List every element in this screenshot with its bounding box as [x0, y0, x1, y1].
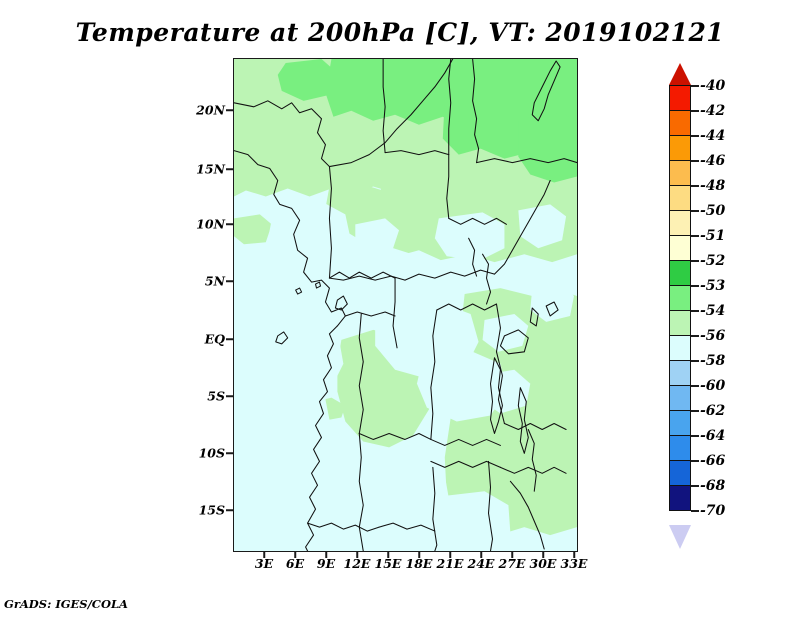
colorbar-cap-top — [669, 63, 691, 85]
footer-attribution: GrADS: IGES/COLA — [4, 597, 128, 611]
page-title: Temperature at 200hPa [C], VT: 201910212… — [0, 18, 800, 47]
colorbar — [669, 85, 691, 525]
colorbar-tick — [691, 260, 699, 262]
colorbar-swatch-15 — [669, 460, 691, 486]
x-axis-label-21e: 21E — [437, 556, 464, 571]
y-axis-label-5n: 5N — [205, 274, 225, 289]
y-tick-mark — [226, 395, 233, 397]
colorbar-label--40: -40 — [700, 78, 725, 94]
y-axis-label-eq: EQ — [205, 332, 225, 347]
x-axis-label-18e: 18E — [406, 556, 433, 571]
y-axis-label-10s: 10S — [199, 446, 225, 461]
colorbar-tick — [691, 210, 699, 212]
colorbar-label--52: -52 — [700, 253, 725, 269]
colorbar-tick — [691, 485, 699, 487]
colorbar-swatch-7 — [669, 260, 691, 286]
colorbar-label--42: -42 — [700, 103, 725, 119]
colorbar-label--60: -60 — [700, 378, 725, 394]
x-axis-label-30e: 30E — [530, 556, 557, 571]
x-axis-label-6e: 6E — [286, 556, 304, 571]
colorbar-swatch-11 — [669, 360, 691, 386]
colorbar-label--44: -44 — [700, 128, 725, 144]
colorbar-label--68: -68 — [700, 478, 725, 494]
colorbar-cap-bottom — [669, 525, 691, 549]
colorbar-swatch-10 — [669, 335, 691, 361]
colorbar-swatch-1 — [669, 110, 691, 136]
colorbar-swatch-6 — [669, 235, 691, 261]
colorbar-swatch-16 — [669, 485, 691, 511]
y-axis-label-10n: 10N — [196, 217, 225, 232]
y-tick-mark — [226, 280, 233, 282]
colorbar-label--62: -62 — [700, 403, 725, 419]
colorbar-swatch-14 — [669, 435, 691, 461]
map-plot-area — [233, 58, 578, 552]
colorbar-tick — [691, 310, 699, 312]
colorbar-tick — [691, 85, 699, 87]
colorbar-swatch-2 — [669, 135, 691, 161]
colorbar-swatch-9 — [669, 310, 691, 336]
colorbar-tick — [691, 285, 699, 287]
colorbar-label--56: -56 — [700, 328, 725, 344]
y-tick-mark — [226, 223, 233, 225]
colorbar-tick — [691, 385, 699, 387]
colorbar-tick — [691, 510, 699, 512]
y-axis-label-15s: 15S — [199, 503, 225, 518]
colorbar-swatch-4 — [669, 185, 691, 211]
colorbar-tick — [691, 335, 699, 337]
colorbar-tick — [691, 135, 699, 137]
colorbar-label--70: -70 — [700, 503, 725, 519]
colorbar-tick — [691, 185, 699, 187]
y-tick-mark — [226, 338, 233, 340]
colorbar-swatch-5 — [669, 210, 691, 236]
colorbar-swatch-8 — [669, 285, 691, 311]
colorbar-label--64: -64 — [700, 428, 725, 444]
colorbar-label--50: -50 — [700, 203, 725, 219]
temperature-field-map — [234, 59, 577, 551]
colorbar-label--53: -53 — [700, 278, 725, 294]
colorbar-tick — [691, 460, 699, 462]
y-axis-label-5s: 5S — [207, 389, 225, 404]
y-tick-mark — [226, 509, 233, 511]
x-axis-label-12e: 12E — [344, 556, 371, 571]
y-tick-mark — [226, 168, 233, 170]
colorbar-tick — [691, 110, 699, 112]
x-axis-label-33e: 33E — [561, 556, 588, 571]
colorbar-swatch-3 — [669, 160, 691, 186]
x-axis-label-3e: 3E — [255, 556, 273, 571]
colorbar-tick — [691, 435, 699, 437]
colorbar-tick — [691, 160, 699, 162]
y-axis-label-15n: 15N — [196, 162, 225, 177]
x-axis-label-15e: 15E — [375, 556, 402, 571]
colorbar-swatch-13 — [669, 410, 691, 436]
colorbar-tick — [691, 235, 699, 237]
colorbar-tick — [691, 360, 699, 362]
x-axis-label-27e: 27E — [499, 556, 526, 571]
colorbar-label--54: -54 — [700, 303, 725, 319]
y-tick-mark — [226, 452, 233, 454]
x-axis-label-24e: 24E — [468, 556, 495, 571]
colorbar-label--48: -48 — [700, 178, 725, 194]
colorbar-label--51: -51 — [700, 228, 725, 244]
colorbar-label--58: -58 — [700, 353, 725, 369]
colorbar-label--66: -66 — [700, 453, 725, 469]
colorbar-swatch-0 — [669, 85, 691, 111]
y-axis-label-20n: 20N — [196, 103, 225, 118]
colorbar-swatch-12 — [669, 385, 691, 411]
y-tick-mark — [226, 109, 233, 111]
colorbar-label--46: -46 — [700, 153, 725, 169]
x-axis-label-9e: 9E — [317, 556, 335, 571]
colorbar-tick — [691, 410, 699, 412]
